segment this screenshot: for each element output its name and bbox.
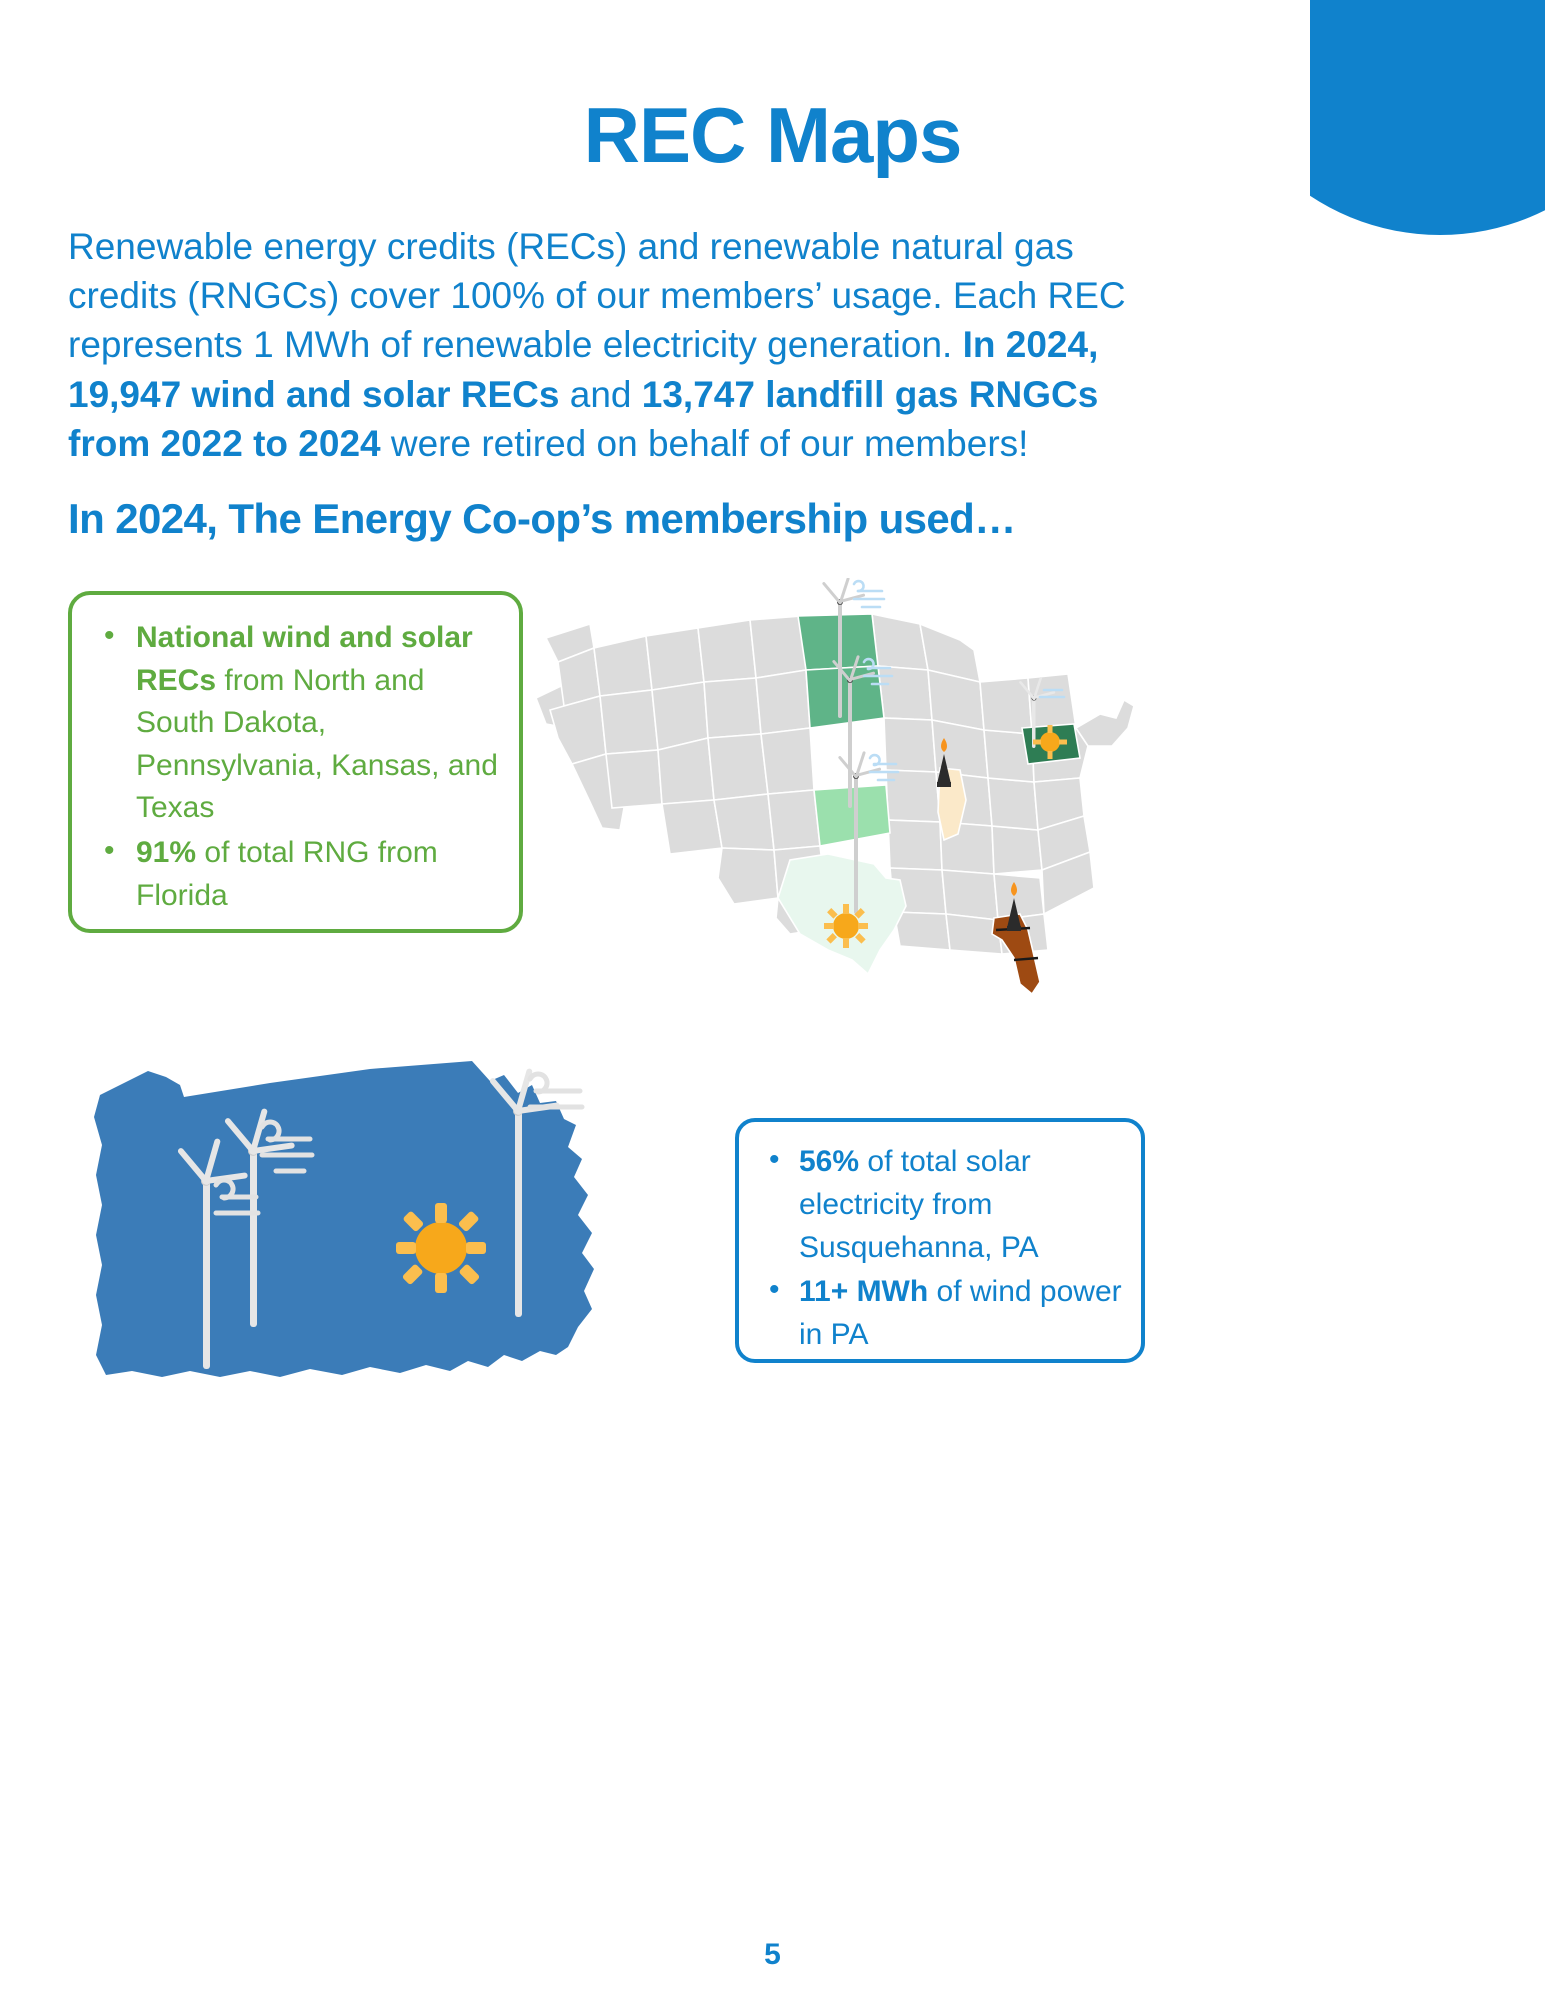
intro-text-tail: were retired on behalf of our members! (381, 423, 1029, 464)
page-root: REC Maps Renewable energy credits (RECs)… (0, 0, 1545, 2000)
intro-paragraph: Renewable energy credits (RECs) and rene… (68, 222, 1148, 468)
list-item: National wind and solar RECs from North … (96, 617, 501, 830)
pennsylvania-map (70, 1055, 710, 1415)
blue-callout-box: 56% of total solar electricity from Susq… (735, 1118, 1145, 1363)
page-title: REC Maps (0, 96, 1545, 174)
blue-item-1-bold: 11+ MWh (799, 1275, 928, 1308)
united-states-map (528, 578, 1148, 1008)
blue-item-0-bold: 56% (799, 1145, 859, 1178)
list-item: 91% of total RNG from Florida (96, 832, 501, 917)
green-item-1-bold: 91% (136, 836, 196, 869)
list-item: 11+ MWh of wind power in PA (761, 1270, 1127, 1356)
green-callout-box: National wind and solar RECs from North … (68, 591, 523, 933)
sun-icon (396, 1203, 486, 1293)
sun-icon (824, 904, 868, 948)
section-heading: In 2024, The Energy Co-op’s membership u… (68, 495, 1188, 543)
list-item: 56% of total solar electricity from Susq… (761, 1140, 1127, 1270)
green-bullet-list: National wind and solar RECs from North … (96, 617, 501, 917)
intro-text-mid: and (559, 374, 641, 415)
page-number: 5 (0, 1938, 1545, 1972)
blue-bullet-list: 56% of total solar electricity from Susq… (761, 1140, 1127, 1356)
